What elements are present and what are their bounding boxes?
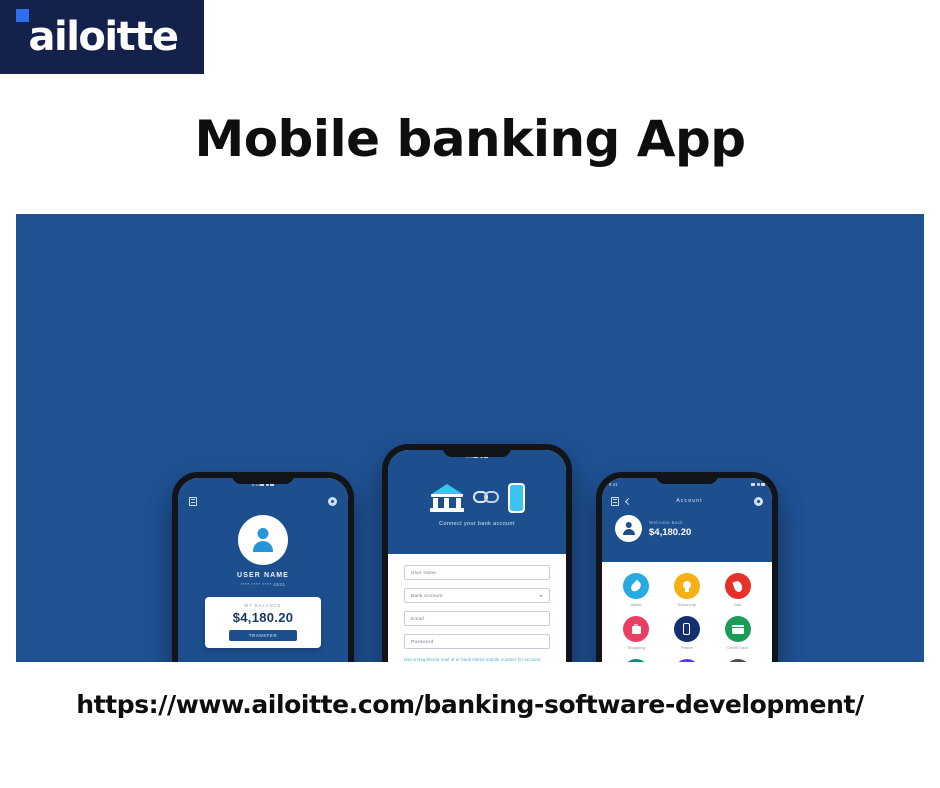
credit-card-icon	[725, 616, 751, 642]
username-field[interactable]: User name	[404, 565, 550, 580]
signal-icon	[751, 483, 755, 486]
brand-logo: ailoitte	[0, 0, 204, 74]
connect-caption: Connect your bank account	[439, 521, 515, 527]
building-icon	[725, 659, 751, 662]
services-grid: Water Electricity Gas Shopping	[612, 573, 762, 662]
phone-mockup-signup: 9:41	[382, 444, 572, 662]
password-field[interactable]: Password	[404, 634, 550, 649]
phone1-screen: 9:41	[178, 478, 348, 662]
brand-logo-accent-square	[16, 9, 29, 22]
hero-banner: 9:41	[16, 214, 924, 662]
service-tile-electricity[interactable]: Electricity	[663, 573, 712, 607]
email-field[interactable]: Email	[404, 611, 550, 626]
gear-icon[interactable]	[328, 497, 337, 506]
service-label: Electricity	[678, 603, 696, 607]
service-tile-insurance[interactable]: Insurance	[612, 659, 661, 662]
statusbar-icons	[751, 483, 765, 486]
service-label: Water	[631, 603, 642, 607]
person-icon	[251, 527, 275, 553]
service-label: Credit Card	[727, 646, 748, 650]
link-icon	[473, 490, 499, 506]
bank-account-field[interactable]: Bank Account	[404, 588, 550, 603]
balance-amount: $4,180.20	[210, 610, 316, 625]
phone-notch	[443, 444, 511, 457]
service-tile-other-bills[interactable]: Other Bills	[713, 659, 762, 662]
home-icon	[674, 659, 700, 662]
person-icon	[622, 521, 636, 536]
list-icon[interactable]	[189, 497, 197, 506]
phone3-user-row: Welcome Back $4,180.20	[602, 511, 772, 542]
service-tile-shopping[interactable]: Shopping	[612, 616, 661, 650]
chevron-down-icon	[539, 595, 543, 597]
service-label: Gas	[734, 603, 741, 607]
shopping-bag-icon	[623, 616, 649, 642]
avatar	[615, 515, 642, 542]
chevron-left-icon[interactable]	[625, 497, 632, 504]
phone2-screen: 9:41	[388, 450, 566, 662]
phone3-services-panel: Water Electricity Gas Shopping	[602, 562, 772, 662]
phone2-header-icons	[430, 483, 525, 513]
water-drop-icon	[623, 573, 649, 599]
service-tile-gas[interactable]: Gas	[713, 573, 762, 607]
transfer-button[interactable]: TRANSFER	[229, 630, 297, 641]
service-tile-credit-card[interactable]: Credit Card	[713, 616, 762, 650]
balance-card: MY BALANCE $4,180.20 TRANSFER	[205, 597, 321, 648]
page-root: ailoitte Mobile banking App 9:41	[0, 0, 940, 788]
phone3-header: 9:41 Account	[602, 478, 772, 562]
phone-mockup-services: 9:41 Account	[596, 472, 778, 662]
service-label: Phone	[681, 646, 693, 650]
list-icon[interactable]	[611, 497, 619, 506]
avatar	[238, 515, 288, 565]
mobile-icon	[508, 483, 525, 513]
phone2-signup-form: User name Bank Account Email Password Us…	[388, 554, 566, 662]
service-tile-water[interactable]: Water	[612, 573, 661, 607]
website-url[interactable]: https://www.ailoitte.com/banking-softwar…	[0, 690, 940, 719]
bank-icon	[430, 484, 464, 513]
mobile-icon	[674, 616, 700, 642]
account-number: **** **** **** 4521	[240, 582, 285, 587]
wifi-icon	[757, 483, 760, 486]
phone1-header: 9:41	[178, 478, 348, 662]
phone2-header: 9:41	[388, 450, 566, 554]
light-bulb-icon	[674, 573, 700, 599]
service-label: Shopping	[628, 646, 645, 650]
shield-icon	[623, 659, 649, 662]
phone-notch	[656, 472, 718, 484]
gear-icon[interactable]	[754, 497, 763, 506]
phone3-topbar: Account	[602, 491, 772, 511]
page-title: Mobile banking App	[0, 110, 940, 168]
brand-logo-text: ailoitte	[27, 17, 178, 57]
form-hint: Use a Registered mail id or bank linked …	[404, 657, 550, 662]
screen-title: Account	[632, 498, 747, 504]
greeting-text: Welcome Back	[649, 520, 691, 525]
statusbar-time: 9:41	[609, 482, 618, 487]
balance-amount: $4,180.20	[649, 527, 691, 538]
user-name: USER NAME	[237, 572, 289, 579]
bank-account-field-value: Bank Account	[411, 593, 443, 598]
phone1-topbar	[178, 491, 348, 511]
balance-label: MY BALANCE	[210, 603, 316, 608]
phone-mockup-dashboard: 9:41	[172, 472, 354, 662]
phone-notch	[232, 472, 294, 484]
phone3-screen: 9:41 Account	[602, 478, 772, 662]
service-tile-phone[interactable]: Phone	[663, 616, 712, 650]
service-tile-mortgage[interactable]: Mortgage	[663, 659, 712, 662]
battery-icon	[761, 483, 765, 486]
flame-icon	[725, 573, 751, 599]
